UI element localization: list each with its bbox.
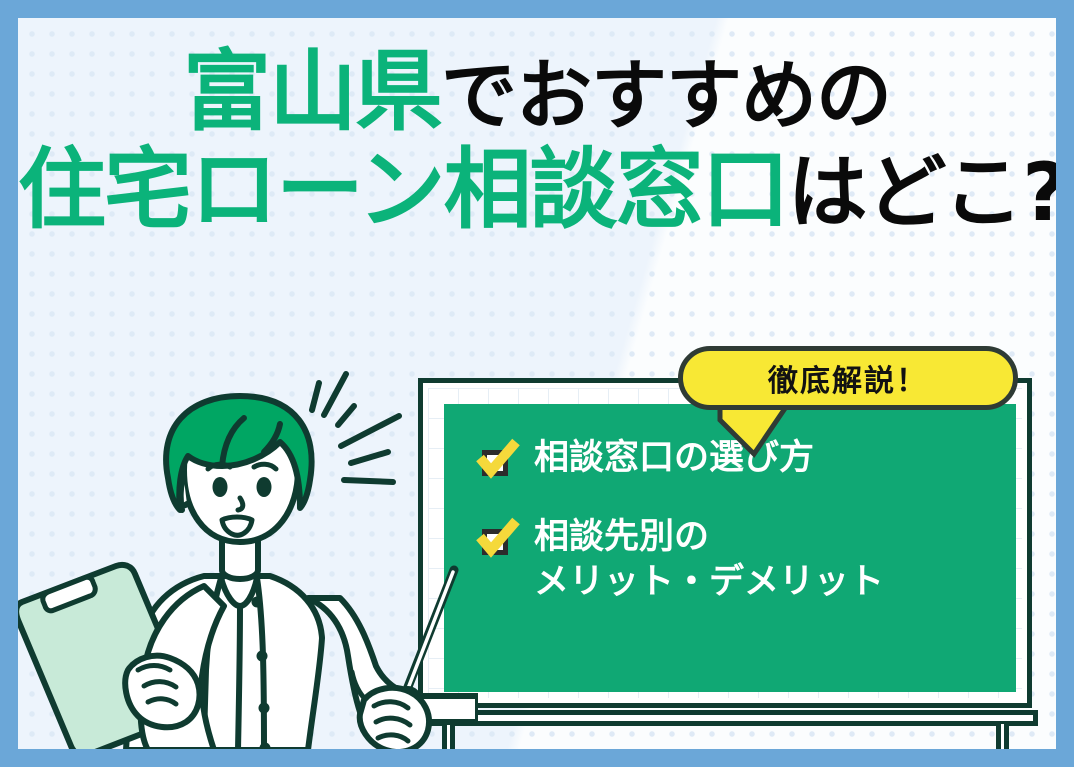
- chalkboard-tray: [412, 710, 1038, 726]
- title-line-1-suffix: でおすすめの: [441, 51, 891, 140]
- checkbox-checked-icon: [476, 440, 518, 480]
- chalkboard-leg-right: [996, 724, 1009, 749]
- poster-canvas: 富山県でおすすめの 住宅ローン相談窓口はどこ?: [0, 0, 1074, 767]
- title-line-1: 富山県でおすすめの: [18, 48, 1056, 136]
- list-item: 相談先別の メリット・デメリット: [476, 515, 996, 605]
- checkbox-checked-icon: [476, 519, 518, 559]
- title-prefecture: 富山県: [183, 40, 441, 143]
- right-hand: [360, 688, 429, 749]
- page-title: 富山県でおすすめの 住宅ローン相談窓口はどこ?: [18, 48, 1056, 234]
- poster-card: 富山県でおすすめの 住宅ローン相談窓口はどこ?: [18, 18, 1056, 749]
- title-line-2: 住宅ローン相談窓口はどこ?: [18, 146, 1056, 234]
- chalkboard-item-list: 相談窓口の選び方 相談先別の メリット・デメリット: [476, 436, 996, 638]
- callout-bubble: 徹底解説！: [678, 346, 1018, 418]
- bubble-label: 徹底解説！: [678, 346, 1018, 410]
- title-topic: 住宅ローン相談窓口: [18, 138, 788, 241]
- list-item-label: 相談先別の メリット・デメリット: [534, 515, 884, 605]
- character-illustration: [18, 370, 478, 749]
- left-hand: [125, 656, 199, 728]
- title-line-2-suffix: はどこ?: [788, 146, 1056, 239]
